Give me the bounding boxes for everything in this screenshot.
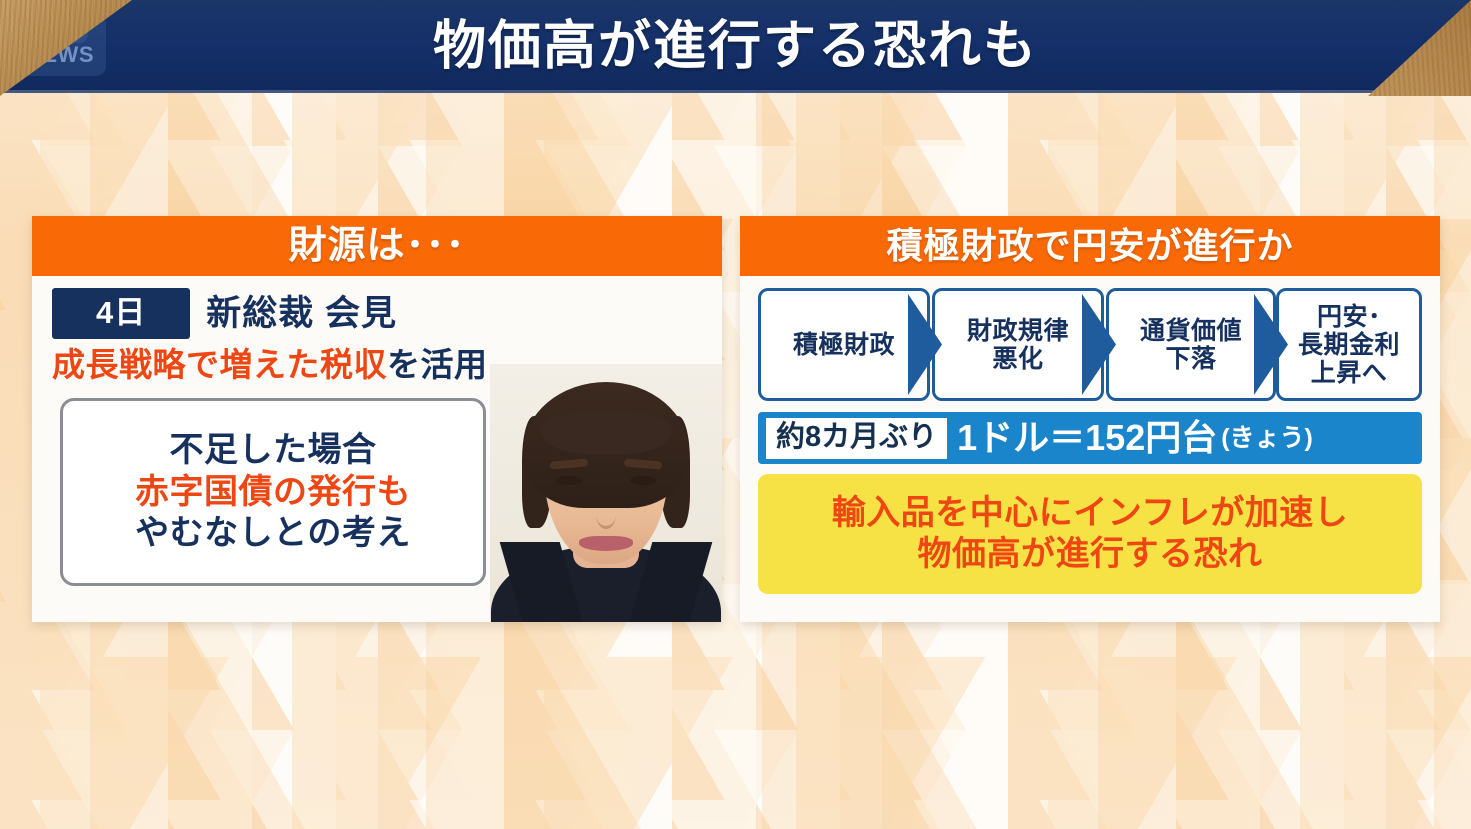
portrait-photo bbox=[490, 364, 722, 622]
portrait-nose bbox=[596, 500, 616, 529]
warning-line-2: 物価高が進行する恐れ bbox=[918, 535, 1263, 574]
page-title: 物価高が進行する恐れも bbox=[0, 19, 1471, 72]
quote-box-line-2: 赤字国債の発行も bbox=[135, 473, 411, 512]
quote-headline-highlight: 成長戦略で増えた税収 bbox=[52, 346, 387, 383]
exchange-rate-note: (きょう) bbox=[1221, 426, 1313, 451]
right-panel-body: 積極財政 財政規律悪化 通貨価値下落 円安･長期金利上昇へ 約8カ月ぶり 1ドル… bbox=[740, 276, 1440, 622]
quote-box: 不足した場合 赤字国債の発行も やむなしとの考え bbox=[60, 398, 486, 586]
exchange-rate-value: 1ドル＝152円台 bbox=[957, 420, 1217, 456]
warning-line-1: 輸入品を中心にインフレが加速し bbox=[832, 494, 1348, 533]
flow-step-2: 財政規律悪化 bbox=[932, 288, 1104, 401]
right-panel: 積極財政で円安が進行か 積極財政 財政規律悪化 通貨価値下落 円安･長期金利上昇… bbox=[740, 216, 1440, 622]
quote-box-line-1: 不足した場合 bbox=[170, 431, 377, 470]
exchange-rate-badge: 約8カ月ぶり bbox=[766, 418, 947, 459]
right-panel-header: 積極財政で円安が進行か bbox=[740, 216, 1440, 276]
flow-step-1: 積極財政 bbox=[758, 288, 930, 401]
date-row: 4日 新総裁 会見 bbox=[52, 288, 397, 339]
quote-headline: 成長戦略で増えた税収を活用 bbox=[52, 348, 488, 381]
flow-step-3: 通貨価値下落 bbox=[1106, 288, 1276, 401]
quote-box-line-3: やむなしとの考え bbox=[135, 514, 411, 553]
portrait-mouth bbox=[579, 536, 633, 551]
header-band: 物価高が進行する恐れも ANN NEWS bbox=[0, 0, 1471, 93]
flow-step-4: 円安･長期金利上昇へ bbox=[1276, 288, 1422, 401]
flow-diagram: 積極財政 財政規律悪化 通貨価値下落 円安･長期金利上昇へ bbox=[758, 288, 1422, 401]
portrait-eye-left bbox=[556, 476, 582, 485]
left-panel-header: 財源は･･･ bbox=[32, 216, 722, 276]
portrait-eye-right bbox=[630, 476, 656, 485]
date-badge: 4日 bbox=[52, 288, 190, 339]
broadcast-graphic: 物価高が進行する恐れも ANN NEWS 財源は･･･ 4日 新総裁 会見 成長… bbox=[0, 0, 1471, 829]
left-panel: 財源は･･･ 4日 新総裁 会見 成長戦略で増えた税収を活用 不足した場合 赤字… bbox=[32, 216, 722, 622]
portrait-fringe bbox=[540, 412, 672, 454]
quote-headline-rest: を活用 bbox=[387, 346, 488, 383]
warning-box: 輸入品を中心にインフレが加速し 物価高が進行する恐れ bbox=[758, 474, 1422, 594]
exchange-rate-bar: 約8カ月ぶり 1ドル＝152円台 (きょう) bbox=[758, 412, 1422, 464]
left-panel-body: 4日 新総裁 会見 成長戦略で増えた税収を活用 不足した場合 赤字国債の発行も … bbox=[32, 276, 722, 622]
date-caption: 新総裁 会見 bbox=[206, 296, 397, 331]
header-underline bbox=[0, 90, 1471, 93]
